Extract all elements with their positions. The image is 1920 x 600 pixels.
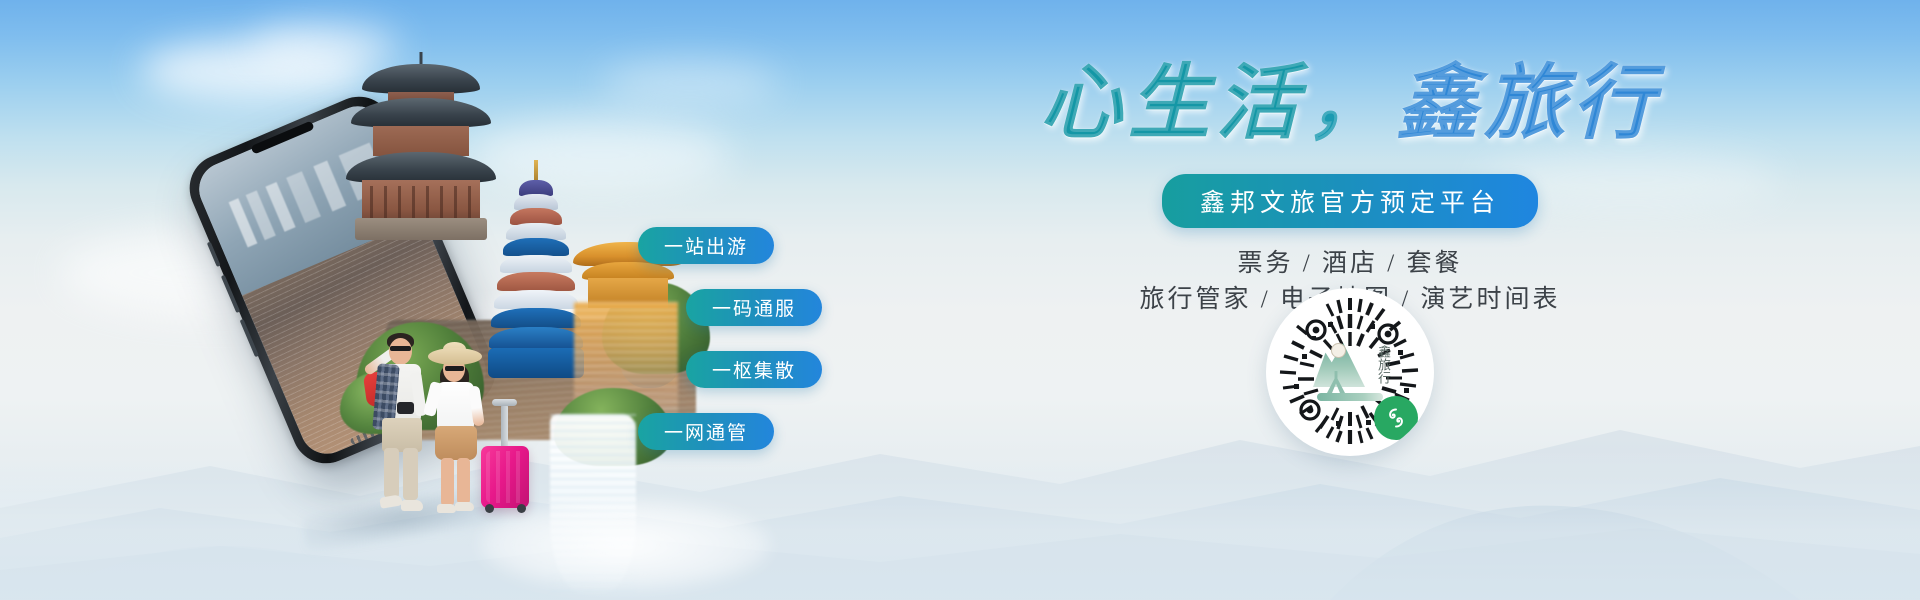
feature-pill-one-network-management[interactable]: 一网通管 — [638, 413, 774, 450]
banner-content-right: 心生活，鑫旅行 鑫邦文旅官方预定平台 票务 / 酒店 / 套餐 旅行管家 / 电… — [1000, 50, 1700, 570]
headline: 心生活，鑫旅行 — [1000, 50, 1700, 160]
brand-logo-text: 鑫旅行 — [1373, 345, 1391, 384]
logo-baseline — [1317, 393, 1383, 401]
feature-pill-label: 一网通管 — [664, 418, 748, 445]
feature-pill-one-stop-travel[interactable]: 一站出游 — [638, 227, 774, 264]
headline-comma: ， — [1306, 58, 1394, 149]
brand-logo: 鑫旅行 — [1313, 337, 1387, 407]
official-platform-badge[interactable]: 鑫邦文旅官方预定平台 — [1162, 174, 1538, 228]
official-platform-badge-label: 鑫邦文旅官方预定平台 — [1200, 189, 1500, 217]
sun-logo-icon — [1331, 343, 1346, 358]
feature-pill-label: 一码通服 — [712, 294, 796, 321]
feature-pill-label: 一站出游 — [664, 232, 748, 259]
promo-banner: 一站出游 一码通服 一枢集散 一网通管 心生活，鑫旅行 鑫邦文旅官方预定平台 票… — [0, 0, 1920, 600]
wechat-miniprogram-icon — [1374, 396, 1418, 440]
feature-pill-one-code-service[interactable]: 一码通服 — [686, 289, 822, 326]
feature-pill-one-hub-transfer[interactable]: 一枢集散 — [686, 351, 822, 388]
headline-part-blue: 鑫旅行 — [1396, 58, 1660, 149]
service-line: 票务 / 酒店 / 套餐 — [1000, 246, 1700, 282]
headline-part-teal: 心生活 — [1040, 58, 1304, 149]
wechat-miniprogram-qr-code[interactable]: 鑫旅行 — [1266, 288, 1434, 456]
feature-pill-label: 一枢集散 — [712, 356, 796, 383]
